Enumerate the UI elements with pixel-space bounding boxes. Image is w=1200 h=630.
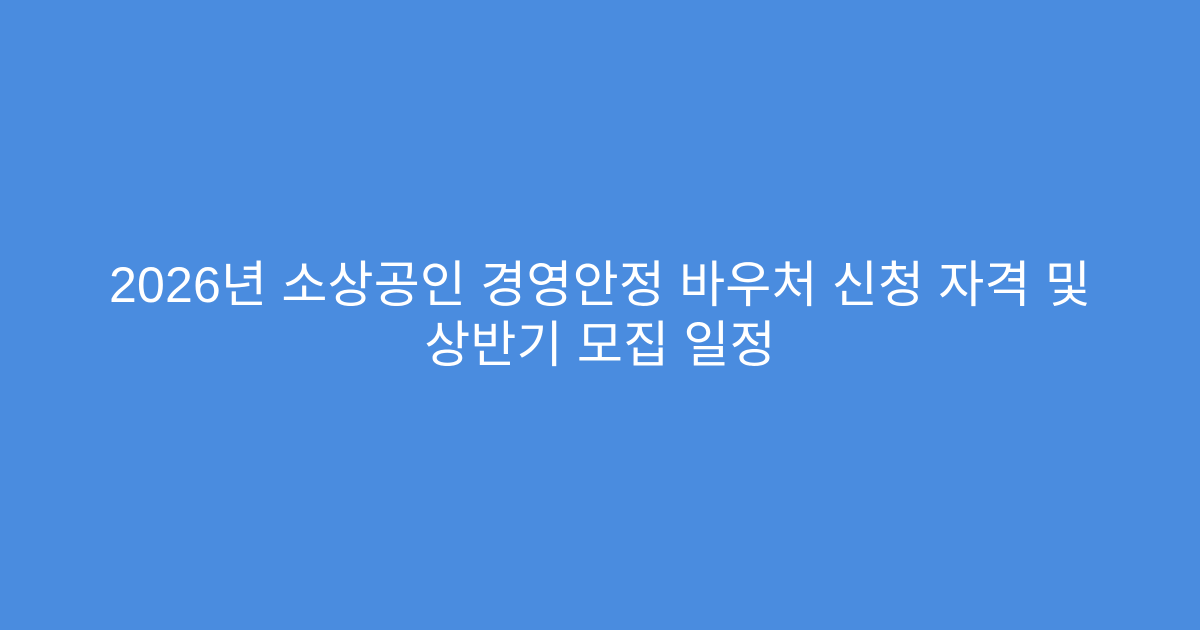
page-title: 2026년 소상공인 경영안정 바우처 신청 자격 및 상반기 모집 일정 <box>90 255 1110 375</box>
title-line-1: 2026년 소상공인 경영안정 바우처 신청 자격 및 <box>90 255 1110 315</box>
title-card: 2026년 소상공인 경영안정 바우처 신청 자격 및 상반기 모집 일정 <box>0 0 1200 630</box>
title-line-2: 상반기 모집 일정 <box>90 315 1110 375</box>
